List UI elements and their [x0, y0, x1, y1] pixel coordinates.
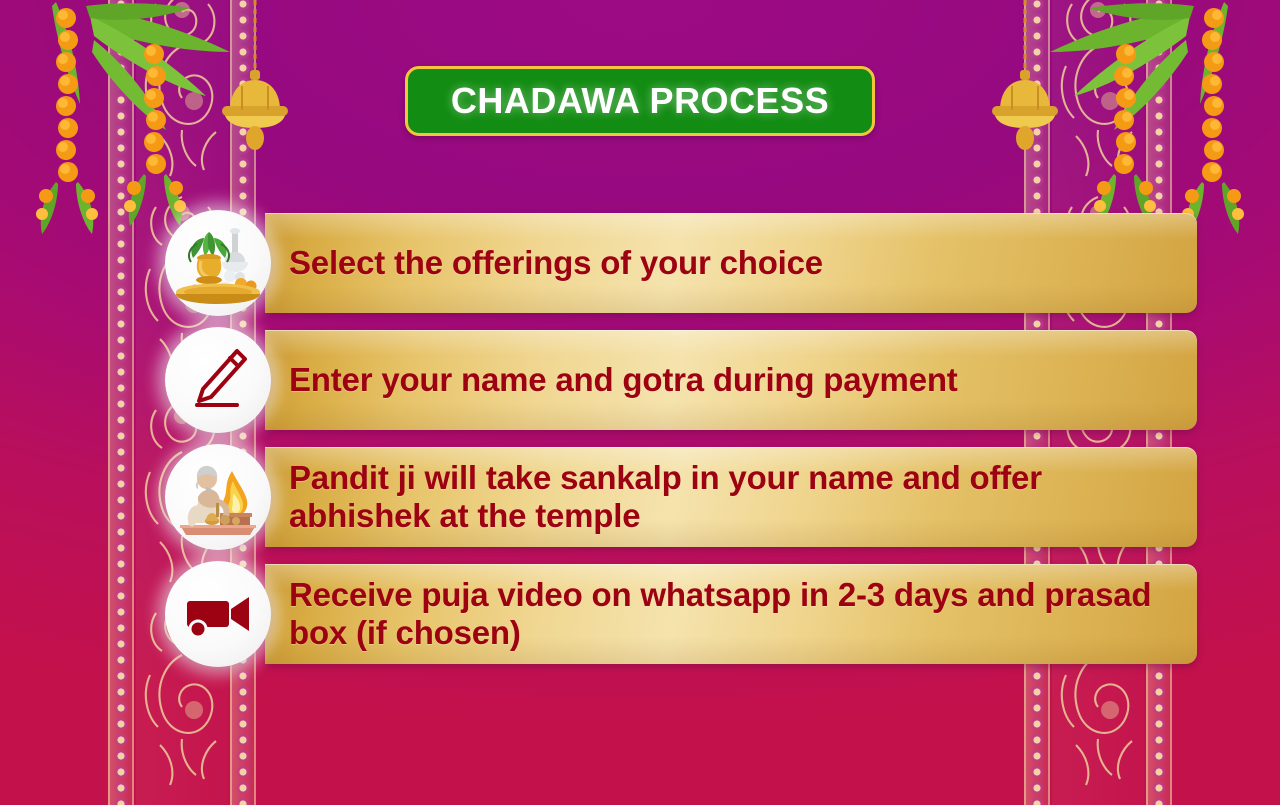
marigold-garland-icon-2 — [124, 44, 186, 226]
step-bar-1: Select the offerings of your choice — [265, 213, 1197, 313]
chadawa-process-steps: Select the offerings of your choice — [0, 213, 1280, 681]
step-label-3: Pandit ji will take sankalp in your name… — [289, 459, 1181, 536]
thali-plate — [176, 284, 260, 305]
left-garland-decoration — [0, 0, 294, 245]
step-bar-3: Pandit ji will take sankalp in your name… — [265, 447, 1197, 547]
step-label-4: Receive puja video on whatsapp in 2-3 da… — [289, 576, 1181, 653]
marigold-garland-icon — [36, 8, 98, 234]
pencil-icon — [165, 327, 271, 433]
pandit-havan-icon — [165, 444, 271, 550]
ritual-mat — [180, 525, 256, 535]
video-camera-icon — [165, 561, 271, 667]
process-step-1: Select the offerings of your choice — [0, 213, 1280, 313]
step-bar-2: Enter your name and gotra during payment — [265, 330, 1197, 430]
process-step-2: Enter your name and gotra during payment — [0, 330, 1280, 430]
temple-bell-icon — [992, 0, 1058, 150]
page-title: CHADAWA PROCESS — [451, 80, 829, 122]
process-step-4: Receive puja video on whatsapp in 2-3 da… — [0, 564, 1280, 664]
step-bar-4: Receive puja video on whatsapp in 2-3 da… — [265, 564, 1197, 664]
banana-leaf-icon — [1050, 2, 1228, 130]
process-step-3: Pandit ji will take sankalp in your name… — [0, 447, 1280, 547]
right-garland-decoration — [986, 0, 1280, 245]
puja-thali-icon — [165, 210, 271, 316]
marigold-garland-icon-2 — [1094, 44, 1156, 226]
page-title-banner: CHADAWA PROCESS — [405, 66, 875, 136]
kalash — [196, 254, 222, 284]
banana-leaf-icon — [52, 2, 230, 130]
marigold-garland-icon — [1182, 8, 1244, 234]
step-label-1: Select the offerings of your choice — [289, 244, 823, 282]
temple-bell-icon — [222, 0, 288, 150]
step-label-2: Enter your name and gotra during payment — [289, 361, 958, 399]
